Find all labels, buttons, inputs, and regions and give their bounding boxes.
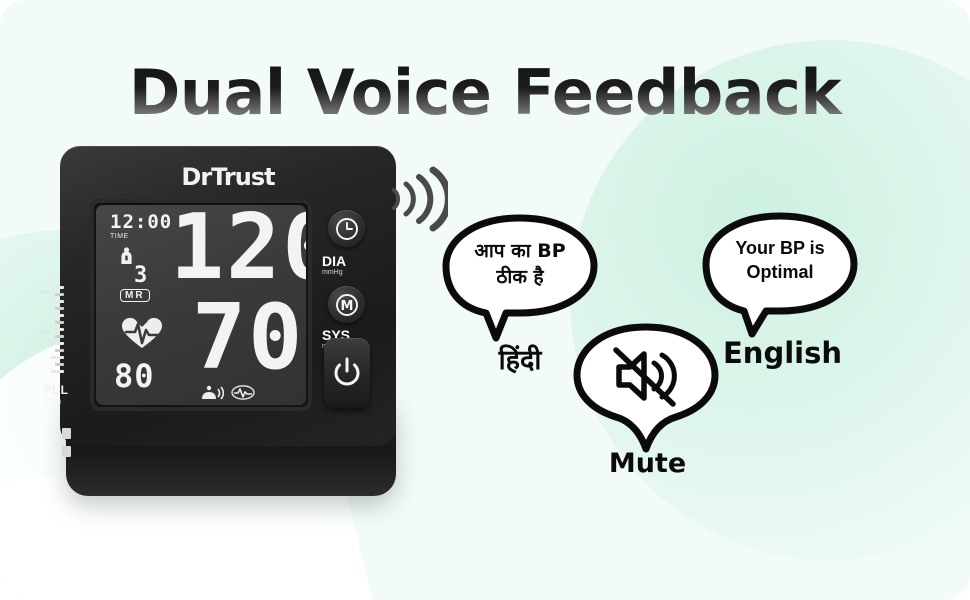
scale-label-high: 240 <box>40 290 49 296</box>
irregular-heartbeat-icon <box>231 385 255 400</box>
clock-button[interactable] <box>328 210 365 247</box>
hindi-bubble-line2: ठीक है <box>440 266 600 289</box>
mute-caption: Mute <box>580 448 715 479</box>
dia-label: DIA mmHg <box>322 254 346 276</box>
blood-pressure-monitor: DrTrust 240 120 PUL /min <box>58 146 403 501</box>
device-body: DrTrust 240 120 PUL /min <box>60 146 396 446</box>
brand-logo: DrTrust <box>60 163 396 191</box>
promo-banner: Dual Voice Feedback DrTrust 240 120 PUL <box>0 0 970 600</box>
lcd-memory-label: MR <box>120 289 150 302</box>
english-speech-bubble: Your BP is Optimal <box>700 212 860 340</box>
english-bubble-line2: Optimal <box>700 262 860 284</box>
mute-speech-bubble <box>572 322 720 454</box>
lcd-diastolic-value: 70 <box>192 297 304 380</box>
lcd-memory-number: 3 <box>134 263 147 288</box>
pressure-scale: 240 120 <box>38 284 64 382</box>
page-title: Dual Voice Feedback <box>0 62 970 124</box>
memory-button[interactable]: M <box>328 286 365 323</box>
svg-text:M: M <box>340 299 353 314</box>
voice-broadcast-icon <box>200 385 224 400</box>
memory-m-icon: M <box>335 293 359 317</box>
lcd-frame: 12:00 TIME 3 MR 80 120 70 <box>90 199 312 411</box>
pulse-label-bezel: PUL /min <box>44 384 68 406</box>
lcd-screen: 12:00 TIME 3 MR 80 120 70 <box>96 205 306 405</box>
power-icon <box>330 356 364 390</box>
english-caption: English <box>710 336 855 370</box>
hindi-bubble-line1: आप का BP <box>440 240 600 263</box>
lcd-pulse-value: 80 <box>114 357 155 395</box>
hindi-caption: हिंदी <box>455 340 585 377</box>
lcd-time-value: 12:00 <box>110 211 172 233</box>
lcd-systolic-value: 120 <box>170 207 306 290</box>
english-bubble-line1: Your BP is <box>700 238 860 260</box>
mute-bubble-shape <box>572 322 720 454</box>
heartbeat-icon <box>121 317 163 349</box>
power-button[interactable] <box>324 338 370 408</box>
scale-label-low: 120 <box>40 330 49 336</box>
user-person-icon <box>120 247 133 264</box>
lcd-time-label: TIME <box>110 233 129 240</box>
clock-icon <box>335 217 359 241</box>
lcd-status-icons <box>200 383 290 401</box>
sound-waves-icon <box>388 162 448 234</box>
